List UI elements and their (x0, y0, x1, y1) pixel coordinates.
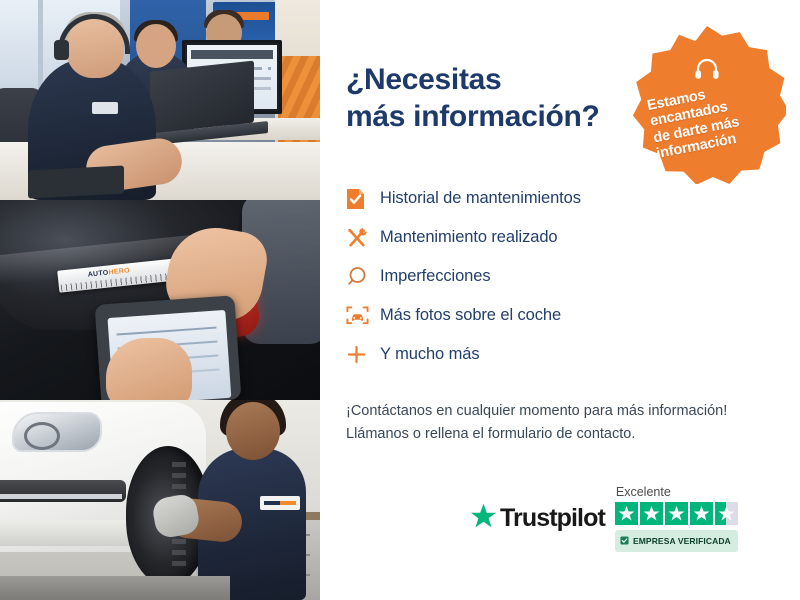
star-5-half (715, 502, 738, 525)
promo-starburst-badge: Estamos encantados de darte más informac… (628, 26, 786, 184)
rating-label: Excelente (616, 485, 671, 499)
hand-holding-tablet-decor (106, 338, 192, 400)
autohero-info-banner: AUTOHERO (0, 0, 800, 600)
mechanic-wheel-inspection-photo (0, 400, 320, 600)
feature-label: Más fotos sobre el coche (380, 306, 561, 325)
feature-item-imperfecciones: Imperfecciones (346, 257, 766, 296)
plus-icon (346, 344, 380, 365)
contact-line-1: ¡Contáctanos en cualquier momento para m… (346, 400, 766, 422)
star-4 (690, 502, 713, 525)
contact-paragraph: ¡Contáctanos en cualquier momento para m… (346, 400, 766, 445)
trustpilot-logo[interactable]: Trustpilot (470, 503, 605, 534)
feature-item-historial: Historial de mantenimientos (346, 179, 766, 218)
content-column: ¿Necesitas más información? Estamos enca… (320, 0, 800, 600)
feature-label: Mantenimiento realizado (380, 228, 557, 247)
page-title-line-2: más información? (346, 99, 636, 136)
star-3 (665, 502, 688, 525)
car-photo-icon (346, 305, 380, 326)
feature-label: Historial de mantenimientos (380, 189, 581, 208)
feature-item-mucho-mas: Y mucho más (346, 335, 766, 374)
page-title: ¿Necesitas más información? (346, 62, 636, 135)
photo-column: AUTOHERO (0, 0, 320, 600)
trustpilot-rating: Excelente (615, 485, 738, 552)
car-lift-decor (0, 576, 230, 600)
tools-icon (346, 227, 380, 249)
laptop-decor (150, 61, 254, 134)
feature-label: Imperfecciones (380, 267, 490, 286)
trustpilot-star-icon (470, 503, 497, 534)
star-1 (615, 502, 638, 525)
page-title-line-1: ¿Necesitas (346, 63, 501, 96)
desk-tablet-decor (28, 165, 124, 198)
verified-check-icon (620, 532, 629, 550)
call-center-agents-photo (0, 0, 320, 200)
feature-label: Y mucho más (380, 345, 479, 364)
headset-icon (694, 58, 720, 85)
verified-company-badge: EMPRESA VERIFICADA (615, 530, 738, 552)
badge-text: Estamos encantados de darte más informac… (646, 77, 768, 163)
document-check-icon (346, 188, 380, 210)
feature-list: Historial de mantenimientos Mantenimient… (346, 179, 766, 374)
star-2 (640, 502, 663, 525)
autohero-ruler-inspection-photo: AUTOHERO (0, 200, 320, 400)
feature-item-mantenimiento: Mantenimiento realizado (346, 218, 766, 257)
feature-item-fotos: Más fotos sobre el coche (346, 296, 766, 335)
trustpilot-block[interactable]: Trustpilot Excelente (470, 485, 738, 552)
star-rating (615, 502, 738, 525)
verified-label: EMPRESA VERIFICADA (633, 536, 731, 546)
magnifier-icon (346, 266, 380, 287)
trustpilot-wordmark: Trustpilot (500, 504, 605, 533)
contact-line-2: Llámanos o rellena el formulario de cont… (346, 423, 766, 445)
